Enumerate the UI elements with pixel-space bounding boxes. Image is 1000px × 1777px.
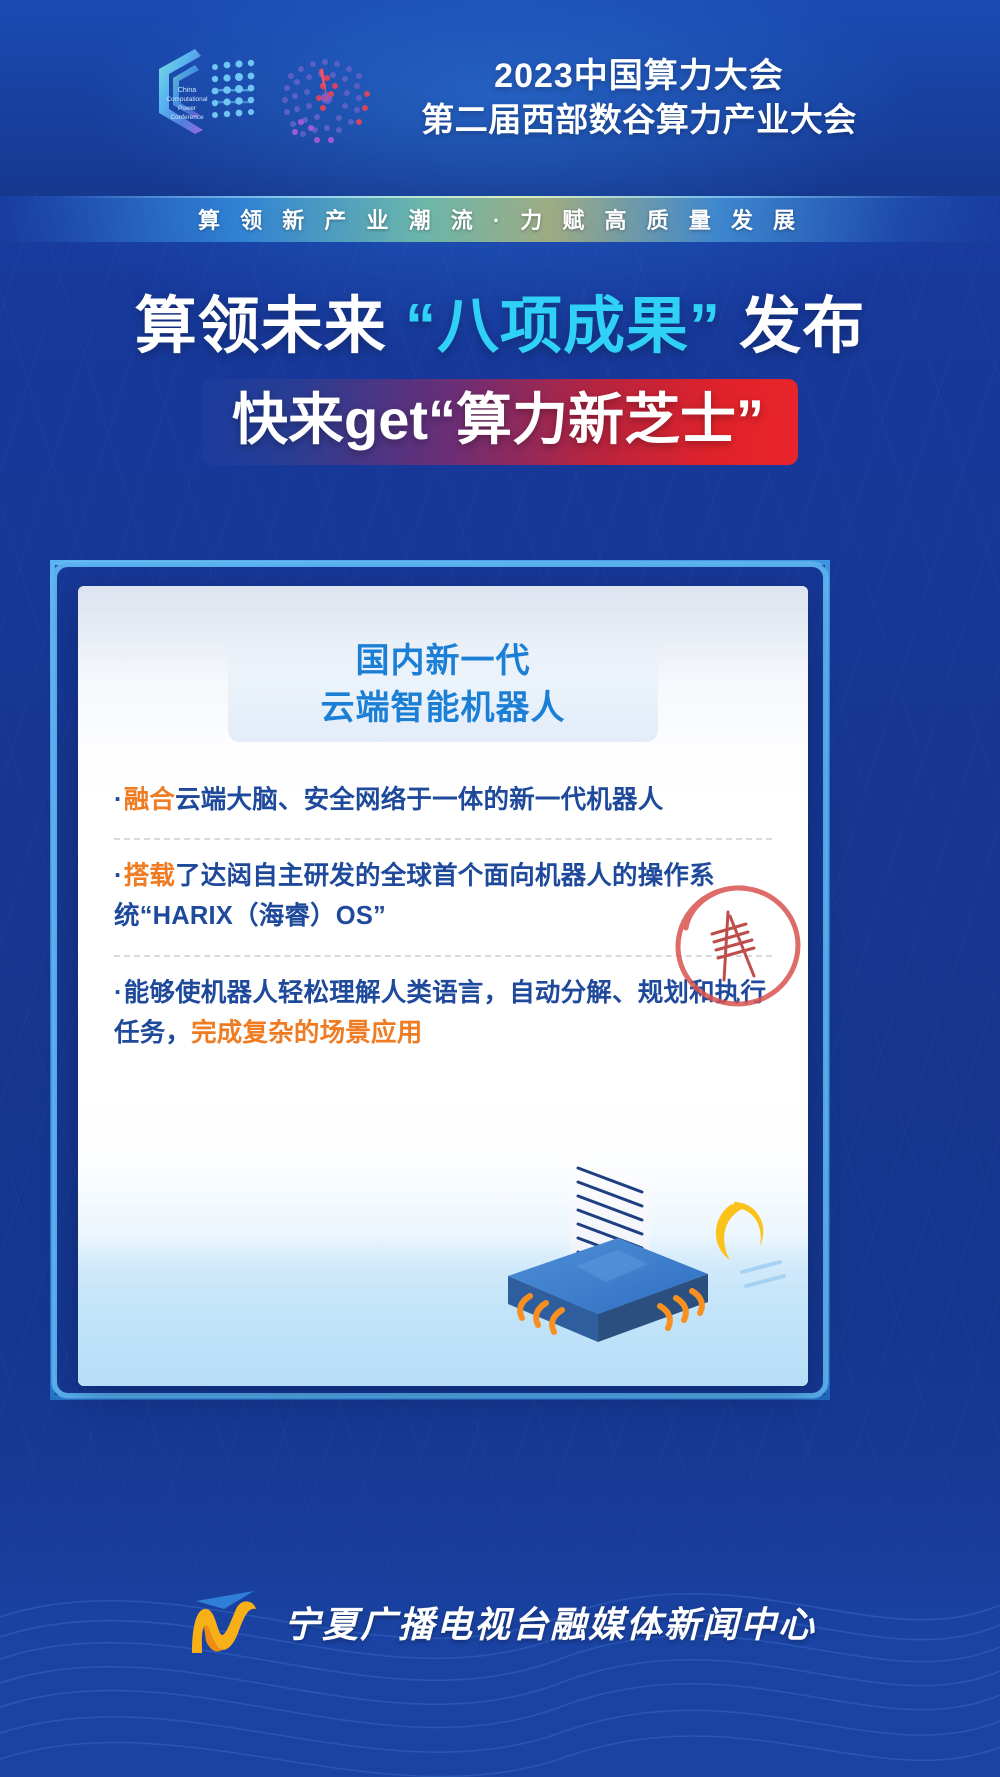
main-title-line1-part1: 算领未来 — [135, 292, 405, 361]
footer-brand-name: 宁夏广播电视台融媒体新闻中心 — [284, 1596, 816, 1648]
main-title-line1: 算领未来 “八项成果” 发布 — [0, 290, 1000, 363]
main-title-line1-part2: 发布 — [721, 292, 865, 361]
main-title-line2: 快来get“算力新芝士” — [202, 379, 798, 465]
bullet-text: 了达闼自主研发的全球首个面向机器人的操作系统“HARIX（海睿）OS” — [114, 862, 715, 930]
footer-brand: 宁夏广播电视台融媒体新闻中心 — [0, 1587, 1000, 1657]
conference-title: 2023中国算力大会 第二届西部数谷算力产业大会 — [421, 57, 857, 139]
main-title-line1-highlight: “八项成果” — [405, 292, 721, 361]
bullet-marker: · — [114, 979, 123, 1007]
bullet-emphasis: 搭载 — [124, 862, 175, 890]
result-card: 国内新一代 云端智能机器人 ·融合云端大脑、安全网络于一体的新一代机器人 ·搭载… — [78, 586, 808, 1386]
slogan-band: 算 领 新 产 业 潮 流 · 力 赋 高 质 量 发 展 — [0, 196, 1000, 242]
slogan-text: 算 领 新 产 业 潮 流 · 力 赋 高 质 量 发 展 — [198, 203, 802, 235]
ningxia-n-swoosh-logo-icon — [184, 1587, 270, 1657]
svg-text:Conference: Conference — [171, 114, 204, 121]
list-item: ·搭载了达闼自主研发的全球首个面向机器人的操作系统“HARIX（海睿）OS” — [112, 840, 774, 955]
isometric-chip-document-illustration-icon — [498, 1146, 788, 1376]
bullet-marker: · — [114, 862, 123, 890]
conference-logos: China Computational Power Conference — [143, 36, 393, 160]
svg-text:China: China — [178, 87, 196, 94]
main-title-line2-wrap: 快来get“算力新芝士” — [0, 379, 1000, 465]
list-item: ·能够使机器人轻松理解人类语言，自动分解、规划和执行任务，完成复杂的场景应用 — [112, 957, 774, 1072]
conference-title-line1: 2023中国算力大会 — [421, 57, 857, 96]
svg-text:Power: Power — [178, 105, 197, 112]
card-bullet-list: ·融合云端大脑、安全网络于一体的新一代机器人 ·搭载了达闼自主研发的全球首个面向… — [112, 764, 774, 1071]
list-item: ·融合云端大脑、安全网络于一体的新一代机器人 — [112, 764, 774, 838]
bullet-marker: · — [114, 786, 123, 814]
poster-header: China Computational Power Conference — [0, 0, 1000, 196]
card-heading-line2: 云端智能机器人 — [228, 685, 658, 732]
card-heading-line1: 国内新一代 — [228, 638, 658, 685]
hexagon-logo-icon: China Computational Power Conference — [143, 39, 263, 157]
fan-burst-logo-icon — [261, 36, 393, 160]
conference-title-line2: 第二届西部数谷算力产业大会 — [421, 101, 857, 139]
bullet-tail-emphasis: 完成复杂的场景应用 — [191, 1019, 422, 1047]
main-title-block: 算领未来 “八项成果” 发布 快来get“算力新芝士” — [0, 290, 1000, 465]
card-heading: 国内新一代 云端智能机器人 — [228, 632, 658, 742]
poster-footer: 宁夏广播电视台融媒体新闻中心 — [0, 1437, 1000, 1777]
bullet-text: 云端大脑、安全网络于一体的新一代机器人 — [175, 786, 663, 814]
svg-text:Computational: Computational — [167, 96, 208, 103]
bullet-emphasis: 融合 — [124, 786, 175, 814]
